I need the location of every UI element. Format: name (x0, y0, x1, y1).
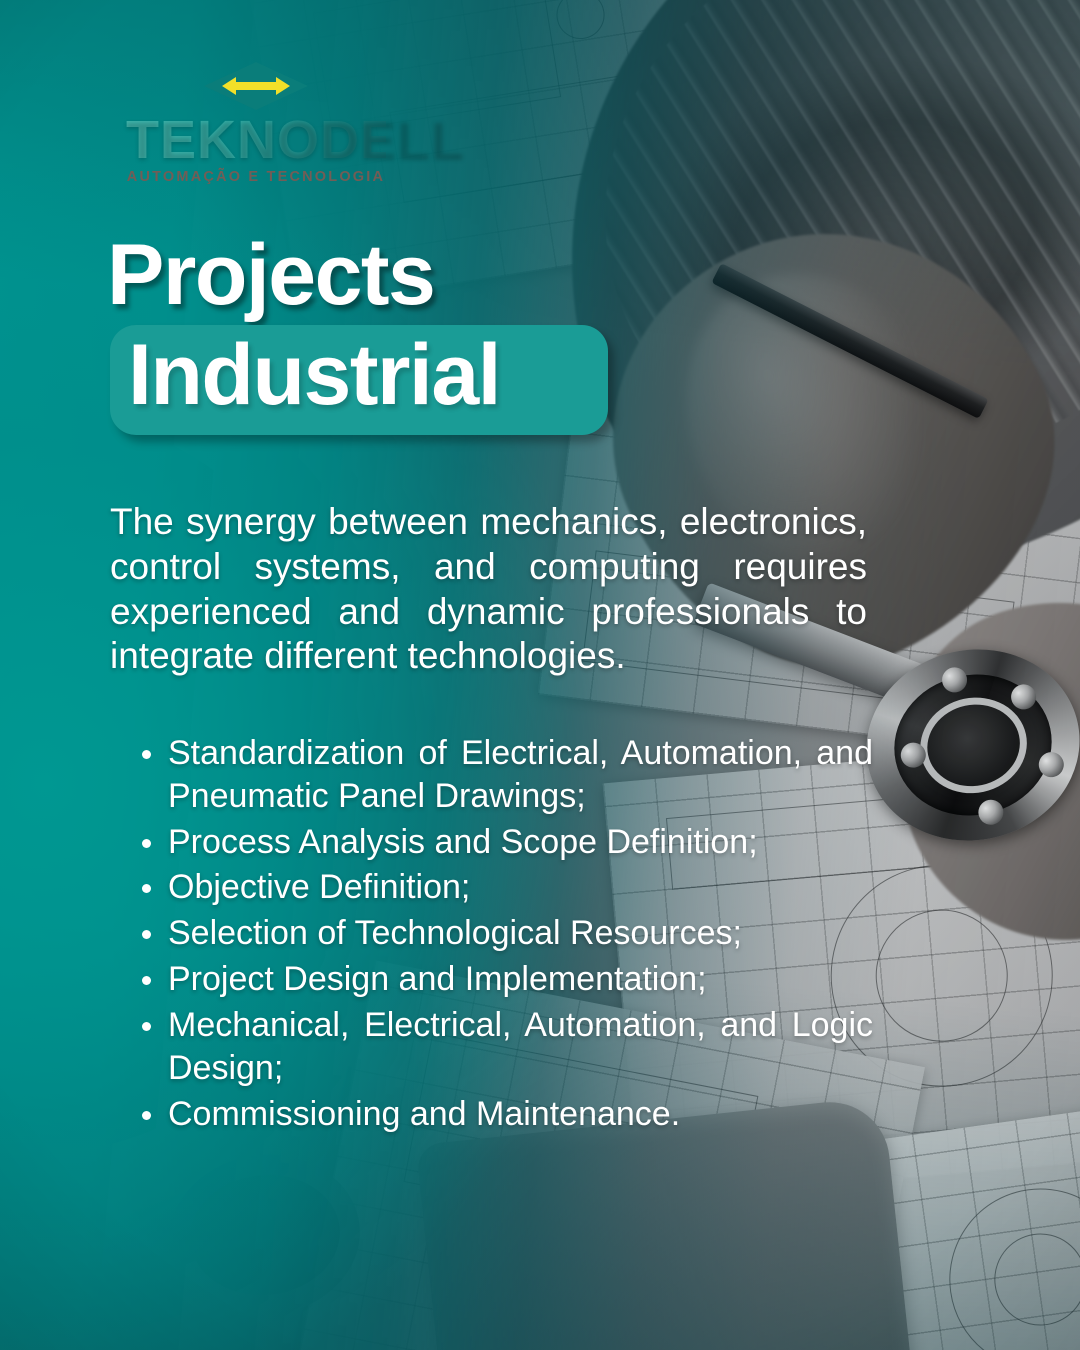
brand-tagline: AUTOMAÇÃO E TECNOLOGIA (126, 169, 386, 185)
list-item: Mechanical, Electrical, Automation, and … (168, 1004, 873, 1090)
list-item: Process Analysis and Scope Definition; (168, 821, 873, 864)
services-list: Standardization of Electrical, Automatio… (168, 732, 873, 1138)
intro-paragraph: The synergy between mechanics, electroni… (110, 500, 867, 679)
page-title-line2: Industrial (128, 332, 500, 418)
list-item: Selection of Technological Resources; (168, 912, 873, 955)
list-item: Standardization of Electrical, Automatio… (168, 732, 873, 818)
poster-canvas: TEKNODELL AUTOMAÇÃO E TECNOLOGIA Project… (0, 0, 1080, 1350)
brand-wordmark: TEKNODELL (126, 116, 386, 166)
list-item: Objective Definition; (168, 866, 873, 909)
page-title-line1: Projects (107, 232, 434, 318)
diamond-double-arrow-icon (202, 60, 310, 112)
brand-logo[interactable]: TEKNODELL AUTOMAÇÃO E TECNOLOGIA (126, 60, 386, 185)
list-item: Project Design and Implementation; (168, 958, 873, 1001)
list-item: Commissioning and Maintenance. (168, 1093, 873, 1136)
logo-svg (202, 60, 310, 112)
